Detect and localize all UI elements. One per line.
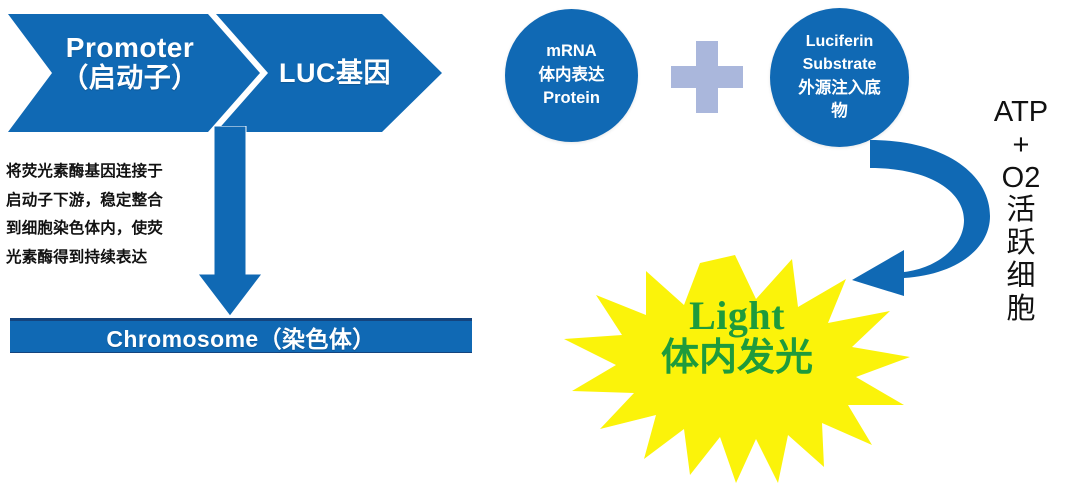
luciferin-circle-line-1: Luciferin <box>798 31 881 54</box>
cofactor-line-2: + <box>982 129 1060 162</box>
light-starburst <box>560 253 910 483</box>
cofactor-line-1: ATP <box>982 96 1060 129</box>
luciferin-circle-text: Luciferin Substrate 外源注入底 物 <box>798 31 881 123</box>
mrna-protein-circle: mRNA 体内表达 Protein <box>505 9 638 142</box>
integration-note-line-4: 光素酶得到持续表达 <box>6 244 221 273</box>
mrna-circle-text: mRNA 体内表达 Protein <box>539 40 605 112</box>
mrna-circle-line-1: mRNA <box>539 40 605 64</box>
luciferin-circle-line-2: Substrate <box>798 54 881 77</box>
integration-note-line-1: 将荧光素酶基因连接于 <box>6 158 221 187</box>
cofactor-line-7: 胞 <box>982 293 1060 326</box>
luciferin-circle-line-3: 外源注入底 <box>798 77 881 100</box>
cofactor-labels: ATP + O2 活 跃 细 胞 <box>982 96 1060 325</box>
integration-note: 将荧光素酶基因连接于 启动子下游，稳定整合 到细胞染色体内，使荧 光素酶得到持续… <box>6 158 221 273</box>
integration-note-line-2: 启动子下游，稳定整合 <box>6 187 221 216</box>
plus-sign-shape <box>671 41 743 113</box>
mrna-circle-line-3: Protein <box>539 87 605 111</box>
gene-construct-chevrons: Promoter （启动子） LUC基因 <box>0 14 460 132</box>
cofactor-line-3: O2 <box>982 162 1060 195</box>
chevron-shapes <box>0 14 460 132</box>
promoter-chevron-shape <box>8 14 260 132</box>
chromosome-label: Chromosome（染色体） <box>106 320 375 354</box>
diagram-canvas: Promoter （启动子） LUC基因 将荧光素酶基因连接于 启动子下游，稳定… <box>0 0 1080 465</box>
plus-icon <box>671 41 743 113</box>
cofactor-line-5: 跃 <box>982 227 1060 260</box>
starburst-shape <box>560 253 910 483</box>
mrna-circle-line-2: 体内表达 <box>539 64 605 88</box>
luciferin-circle-line-4: 物 <box>798 100 881 123</box>
cofactor-line-4: 活 <box>982 194 1060 227</box>
chromosome-bar: Chromosome（染色体） <box>10 318 472 353</box>
luciferin-substrate-circle: Luciferin Substrate 外源注入底 物 <box>770 8 909 147</box>
cofactor-line-6: 细 <box>982 260 1060 293</box>
integration-note-line-3: 到细胞染色体内，使荧 <box>6 215 221 244</box>
